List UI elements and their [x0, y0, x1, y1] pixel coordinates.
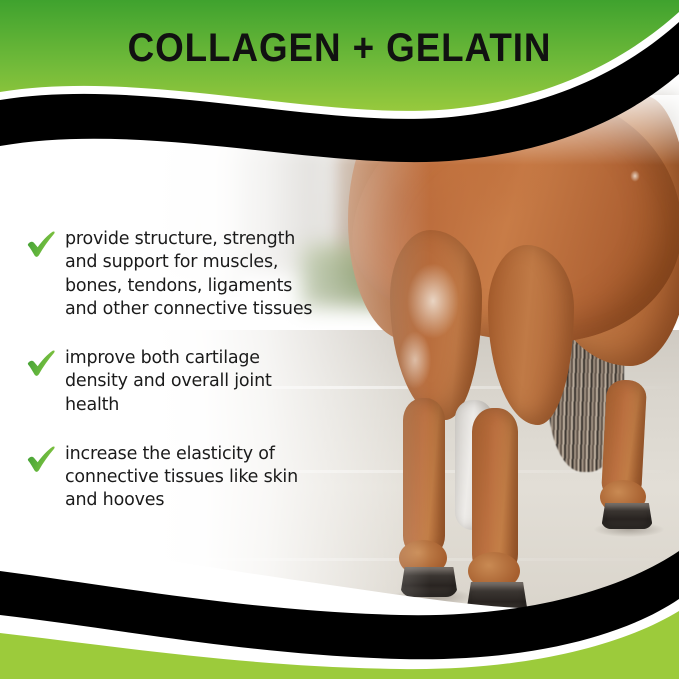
green-check-icon	[26, 230, 56, 258]
green-check-icon	[26, 349, 56, 377]
list-item: provide structure, strength and support …	[26, 228, 376, 321]
benefits-list: provide structure, strength and support …	[26, 228, 376, 513]
infographic-canvas: COLLAGEN + GELATIN provide structure, st…	[0, 0, 679, 679]
list-item-label: increase the elasticity of connective ti…	[65, 443, 298, 513]
list-item-label: improve both cartilage density and overa…	[65, 347, 272, 417]
bottom-banner	[0, 529, 679, 679]
list-item: improve both cartilage density and overa…	[26, 347, 376, 417]
list-item-label: provide structure, strength and support …	[65, 228, 312, 321]
page-title: COLLAGEN + GELATIN	[27, 26, 652, 71]
top-banner: COLLAGEN + GELATIN	[0, 0, 679, 175]
list-item: increase the elasticity of connective ti…	[26, 443, 376, 513]
green-check-icon	[26, 445, 56, 473]
horse-hoof-far	[601, 503, 653, 529]
